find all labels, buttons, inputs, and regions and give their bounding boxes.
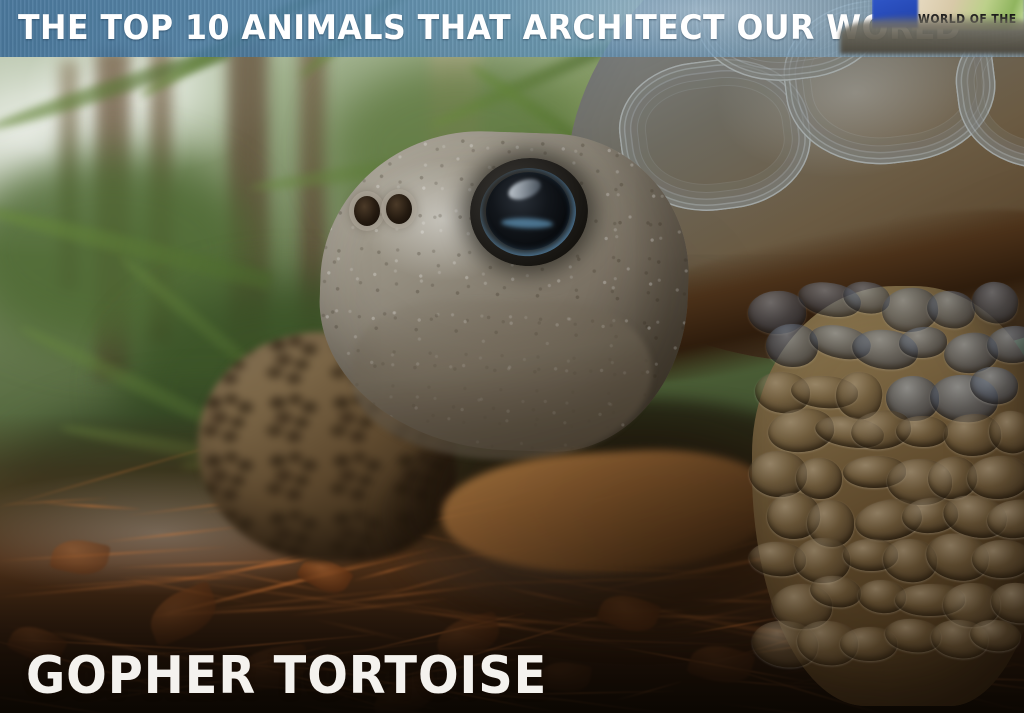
tortoise-jaw [352,300,652,460]
leg-scale [966,454,1024,501]
tortoise-right-foreleg [752,286,1024,706]
leg-scale [896,415,948,446]
shell-occluding-watermark [840,14,1024,54]
subject-title: GOPHER TORTOISE [26,647,547,705]
nostril-left [354,196,380,226]
headline-text: THE TOP 10 ANIMALS THAT ARCHITECT OUR WO… [18,8,961,48]
screenshot-canvas: THE TOP 10 ANIMALS THAT ARCHITECT OUR WO… [0,0,1024,713]
nostril-right [386,194,412,224]
